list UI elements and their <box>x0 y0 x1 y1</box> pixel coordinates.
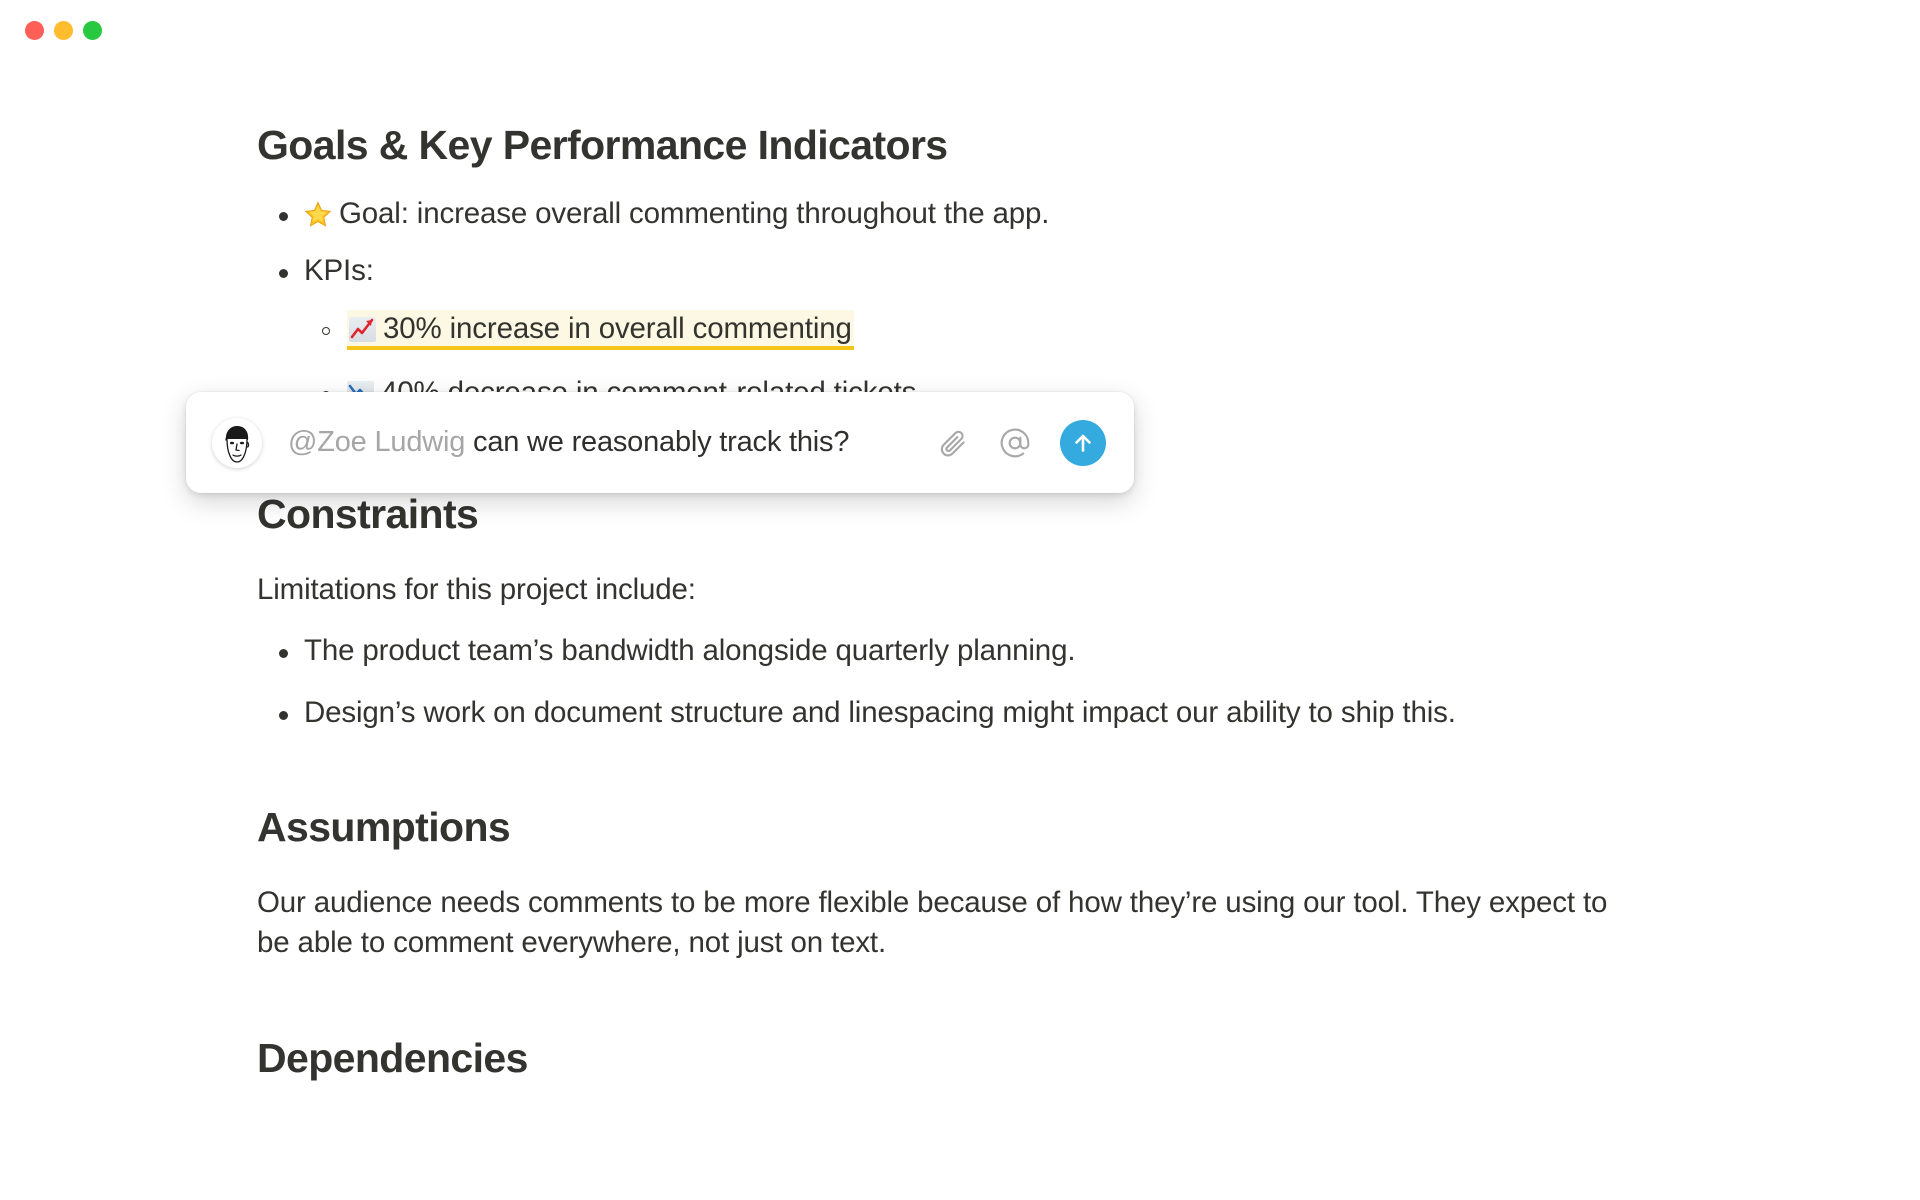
chart-increasing-icon <box>349 317 376 342</box>
assumptions-paragraph: Our audience needs comments to be more f… <box>257 883 1642 963</box>
goals-bullet-list: Goal: increase overall commenting throug… <box>257 195 1800 291</box>
star-icon <box>304 200 332 227</box>
maximize-window-button[interactable] <box>83 21 102 40</box>
paperclip-icon[interactable] <box>936 426 970 460</box>
document-content: Goals & Key Performance Indicators Goal:… <box>257 122 1800 1082</box>
constraints-bullet-list: The product team’s bandwidth alongside q… <box>257 632 1800 732</box>
minimize-window-button[interactable] <box>54 21 73 40</box>
comment-popup[interactable]: @Zoe Ludwig can we reasonably track this… <box>186 392 1134 493</box>
close-window-button[interactable] <box>25 21 44 40</box>
at-sign-icon[interactable] <box>998 426 1032 460</box>
comment-actions <box>936 420 1106 466</box>
heading-constraints: Constraints <box>257 491 1800 538</box>
list-item: KPIs: <box>257 252 1800 290</box>
app-window: Goals & Key Performance Indicators Goal:… <box>0 0 1920 1200</box>
heading-assumptions: Assumptions <box>257 804 1800 851</box>
avatar <box>212 418 262 468</box>
title-bar <box>0 0 1920 68</box>
comment-input[interactable]: @Zoe Ludwig can we reasonably track this… <box>288 426 936 459</box>
list-item-text: Goal: increase overall commenting throug… <box>339 197 1049 230</box>
list-item-text: The product team’s bandwidth alongside q… <box>304 634 1075 667</box>
constraints-intro: Limitations for this project include: <box>257 570 1800 610</box>
send-comment-button[interactable] <box>1060 420 1106 466</box>
list-item-text: 30% increase in overall commenting <box>383 312 852 345</box>
mention-token: @Zoe Ludwig <box>288 426 465 458</box>
list-item: Goal: increase overall commenting throug… <box>257 195 1800 233</box>
comment-body-text: can we reasonably track this? <box>465 426 849 458</box>
heading-dependencies: Dependencies <box>257 1035 1800 1082</box>
document-canvas[interactable]: Goals & Key Performance Indicators Goal:… <box>0 68 1920 1200</box>
list-item-text: KPIs: <box>304 254 374 287</box>
window-controls <box>25 21 102 40</box>
list-item: Design’s work on document structure and … <box>257 694 1800 732</box>
heading-goals: Goals & Key Performance Indicators <box>257 122 1800 169</box>
list-item-text: Design’s work on document structure and … <box>304 696 1456 729</box>
list-item: 30% increase in overall commenting <box>257 310 1800 348</box>
highlighted-kpi[interactable]: 30% increase in overall commenting <box>347 310 854 350</box>
list-item: The product team’s bandwidth alongside q… <box>257 632 1800 670</box>
